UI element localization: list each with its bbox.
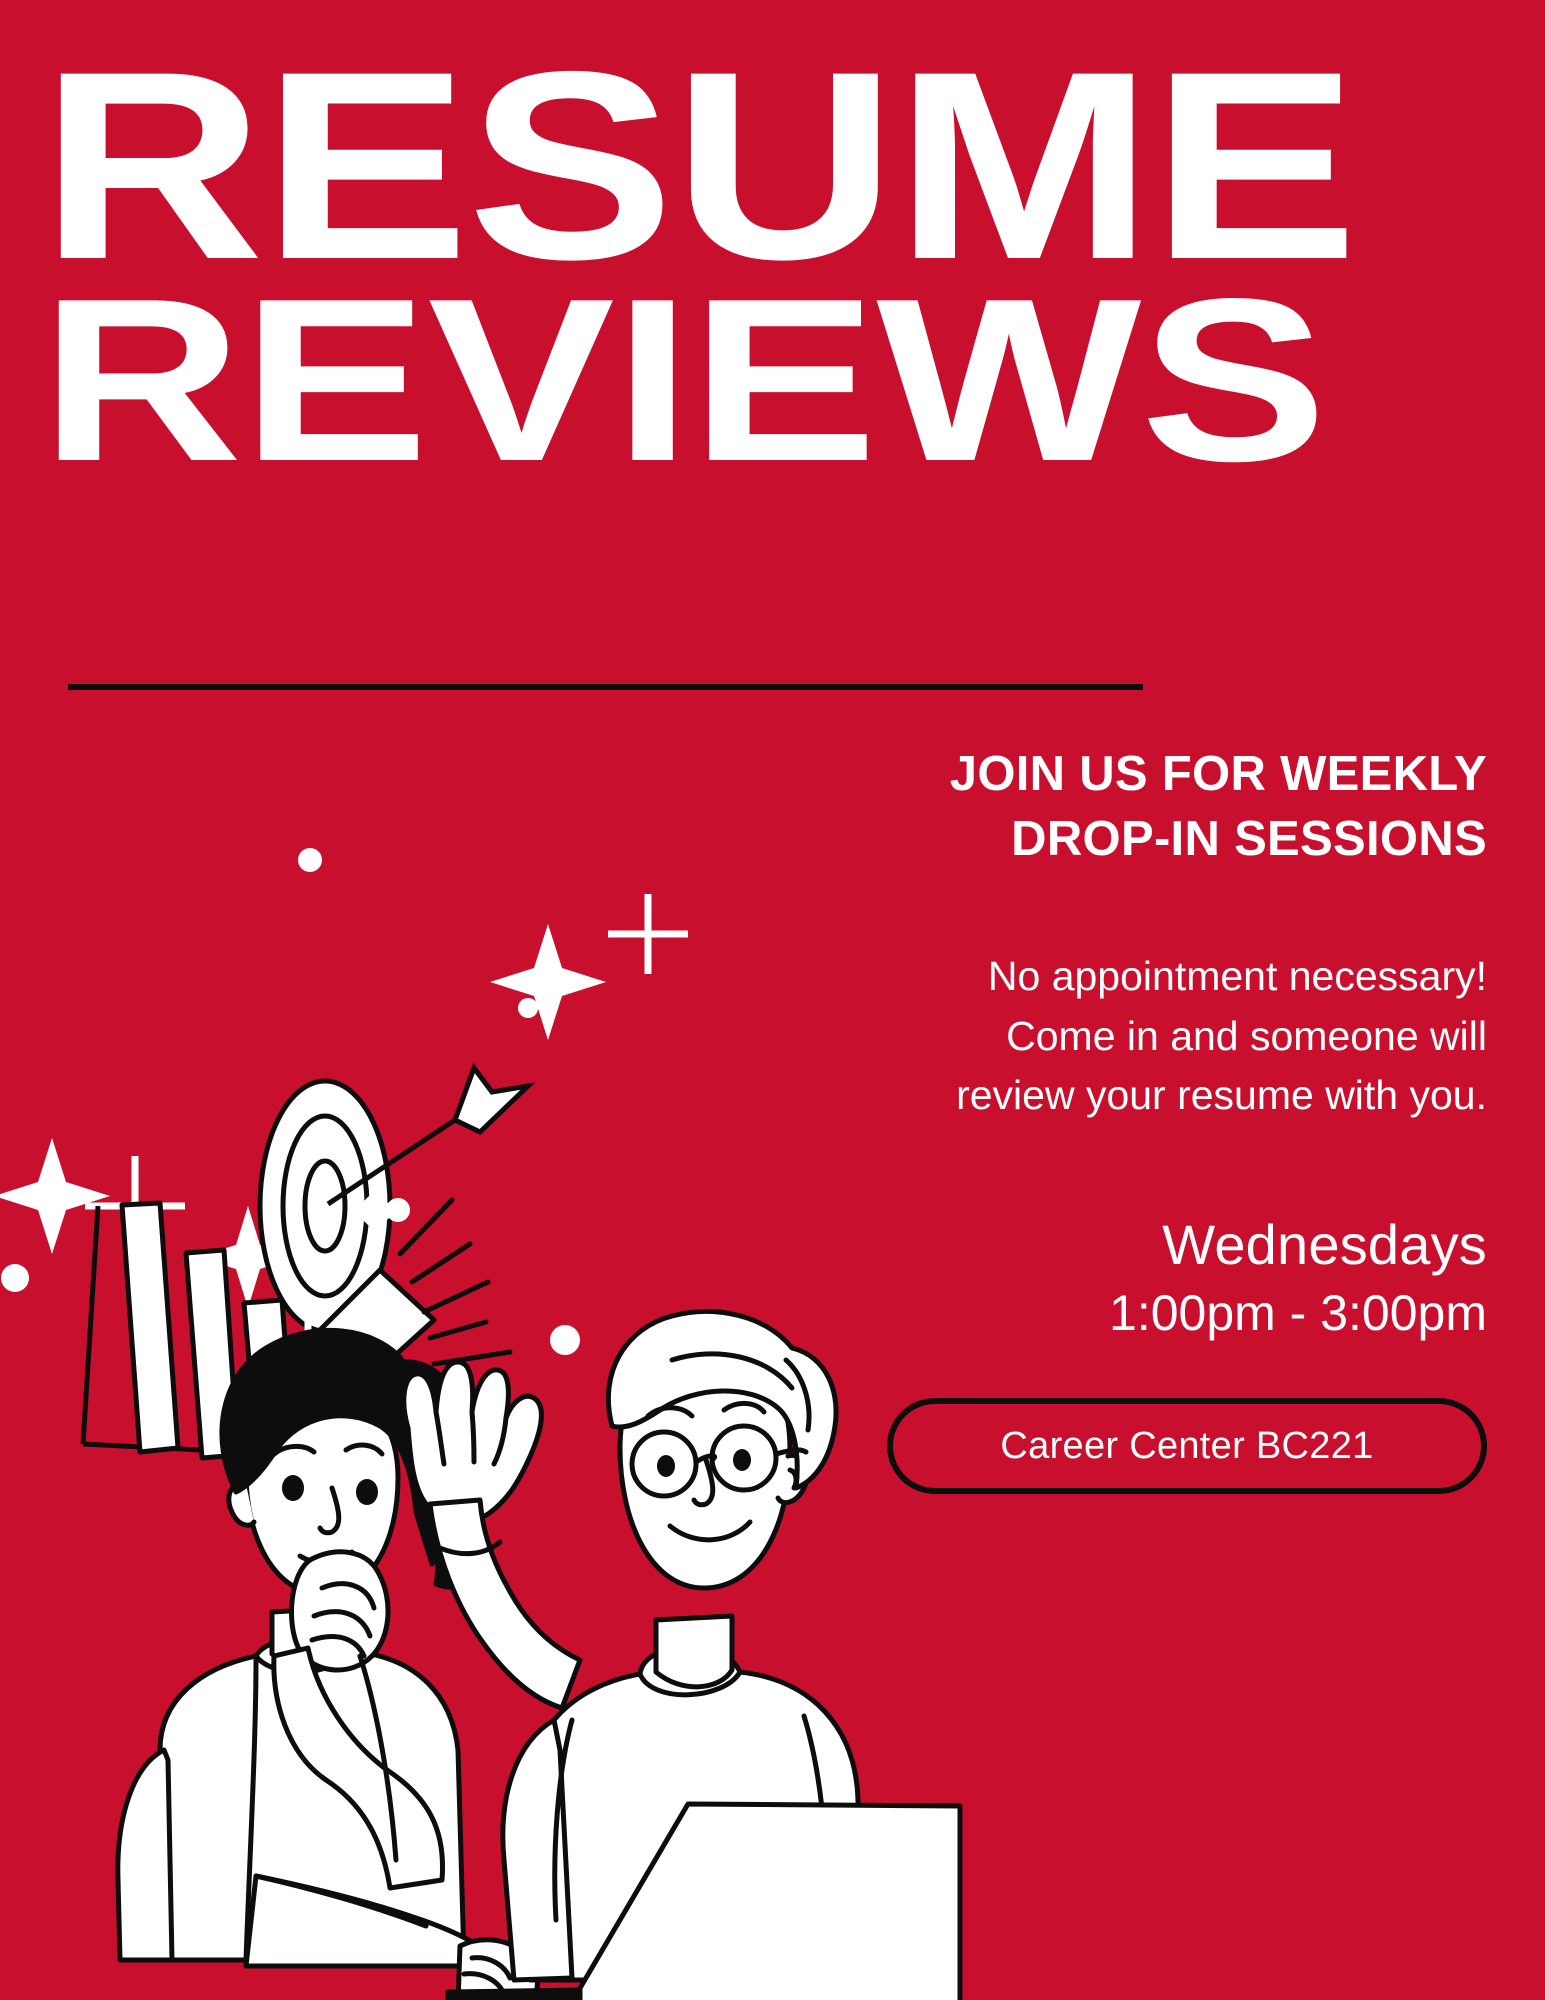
page-title: RESUME REVIEWS — [40, 58, 1158, 474]
sparkle-icon — [490, 924, 606, 1040]
dot-icon — [1, 1264, 29, 1292]
description-line-2: Come in and someone will — [837, 1007, 1487, 1066]
title-line-1: RESUME — [40, 58, 1337, 272]
poster-canvas: RESUME REVIEWS JOIN US FOR WEEKLY DROP-I… — [0, 0, 1545, 2000]
dot-icon — [298, 848, 322, 872]
kicker-line-2: DROP-IN SESSIONS — [837, 807, 1487, 872]
kicker-line-1: JOIN US FOR WEEKLY — [837, 742, 1487, 807]
plus-icon — [608, 894, 688, 974]
dot-icon — [518, 998, 538, 1018]
people-illustration — [60, 1060, 960, 2000]
location-badge: Career Center BC221 — [887, 1398, 1487, 1494]
title-divider-rule — [68, 684, 1143, 690]
title-line-2: REVIEWS — [40, 288, 1393, 474]
kicker-heading: JOIN US FOR WEEKLY DROP-IN SESSIONS — [837, 742, 1487, 871]
description-line-1: No appointment necessary! — [837, 947, 1487, 1006]
